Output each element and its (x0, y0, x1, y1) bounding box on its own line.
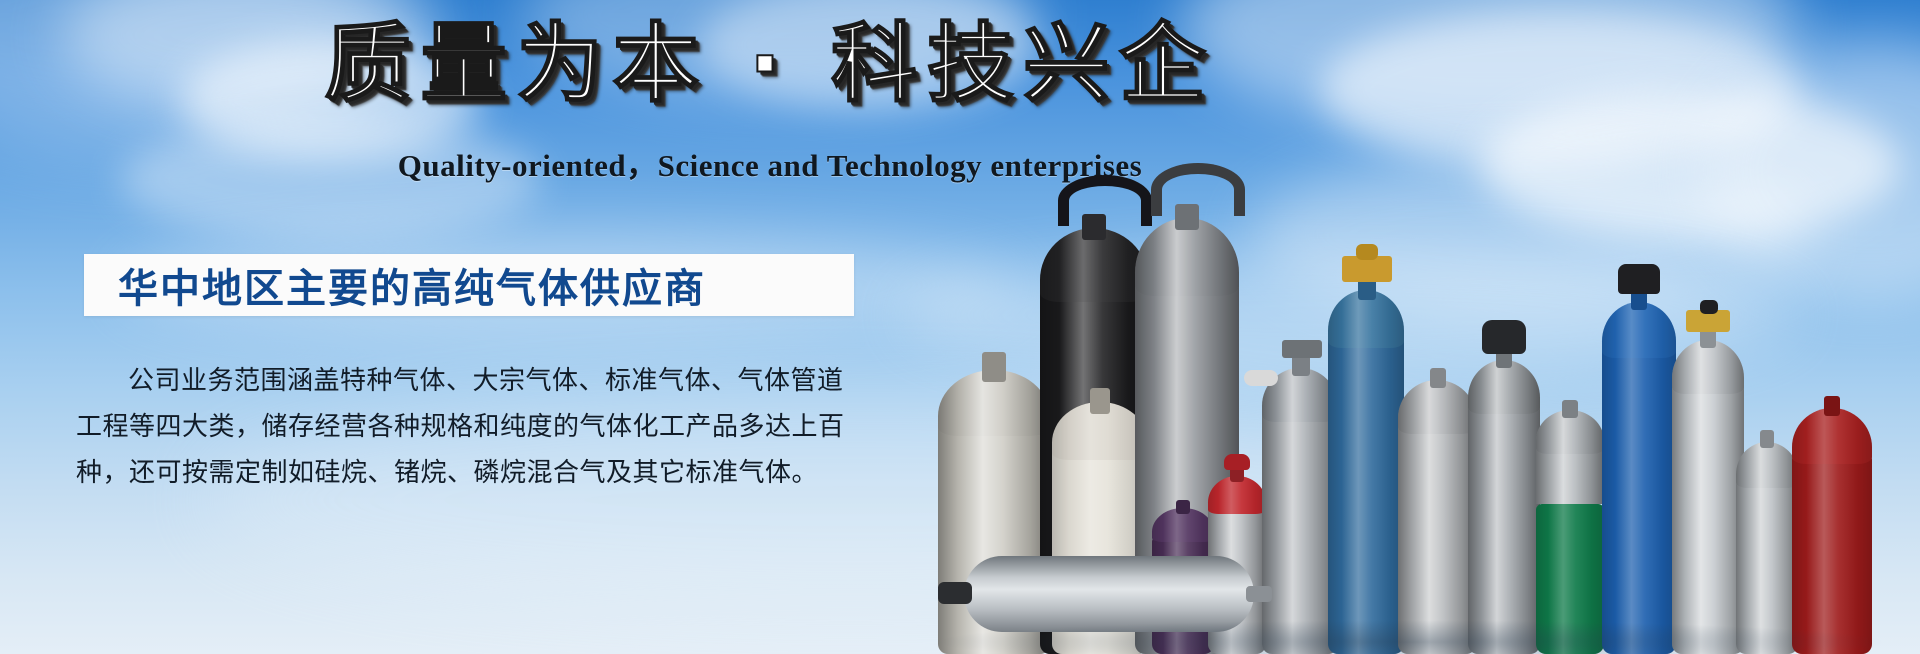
paragraph-line-1: 公司业务范围涵盖特种气体、大宗气体、标准气体、气体管道 (76, 358, 876, 404)
grey-cylinder-valve-guard (1151, 163, 1245, 216)
description-paragraph: 公司业务范围涵盖特种气体、大宗气体、标准气体、气体管道 工程等四大类，储存经营各… (76, 358, 876, 496)
banner-canvas: 质量为本 · 科技兴企 Quality-oriented，Science and… (0, 0, 1920, 654)
cylinder-ground-shadow (930, 620, 1890, 654)
brass-valve-knob (1356, 244, 1378, 260)
green-cylinder (1536, 396, 1604, 654)
light-grey-cylinder (1398, 354, 1476, 654)
gas-cylinder-group (930, 0, 1920, 654)
paragraph-line-3: 种，还可按需定制如硅烷、锗烷、磷烷混合气及其它标准气体。 (76, 450, 876, 496)
steel-cylinder (1262, 336, 1338, 654)
blue-cylinder-cap (1618, 264, 1660, 294)
blue-cylinder (1602, 258, 1676, 654)
dark-cap-cylinder (1468, 320, 1540, 654)
black-valve-cap (1482, 320, 1526, 354)
paragraph-line-2: 工程等四大类，储存经营各种规格和纯度的气体化工产品多达上百 (76, 404, 876, 450)
steel-cylinder-handwheel (1244, 370, 1278, 386)
aluminium-cylinder-knob (1700, 300, 1718, 314)
horizontal-cylinder-valve (938, 582, 972, 604)
white-cylinder-neck (982, 352, 1006, 382)
red-cap (1224, 454, 1250, 470)
highlight-box: 华中地区主要的高纯气体供应商 (84, 254, 854, 316)
highlight-box-text: 华中地区主要的高纯气体供应商 (118, 256, 706, 314)
horizontal-cylinder-neck (1246, 586, 1272, 602)
blue-cylinder-brass-valve (1328, 244, 1404, 654)
steel-cylinder-valve (1282, 340, 1322, 358)
aluminium-cylinder (1672, 302, 1744, 654)
dark-red-cylinder (1792, 390, 1872, 654)
